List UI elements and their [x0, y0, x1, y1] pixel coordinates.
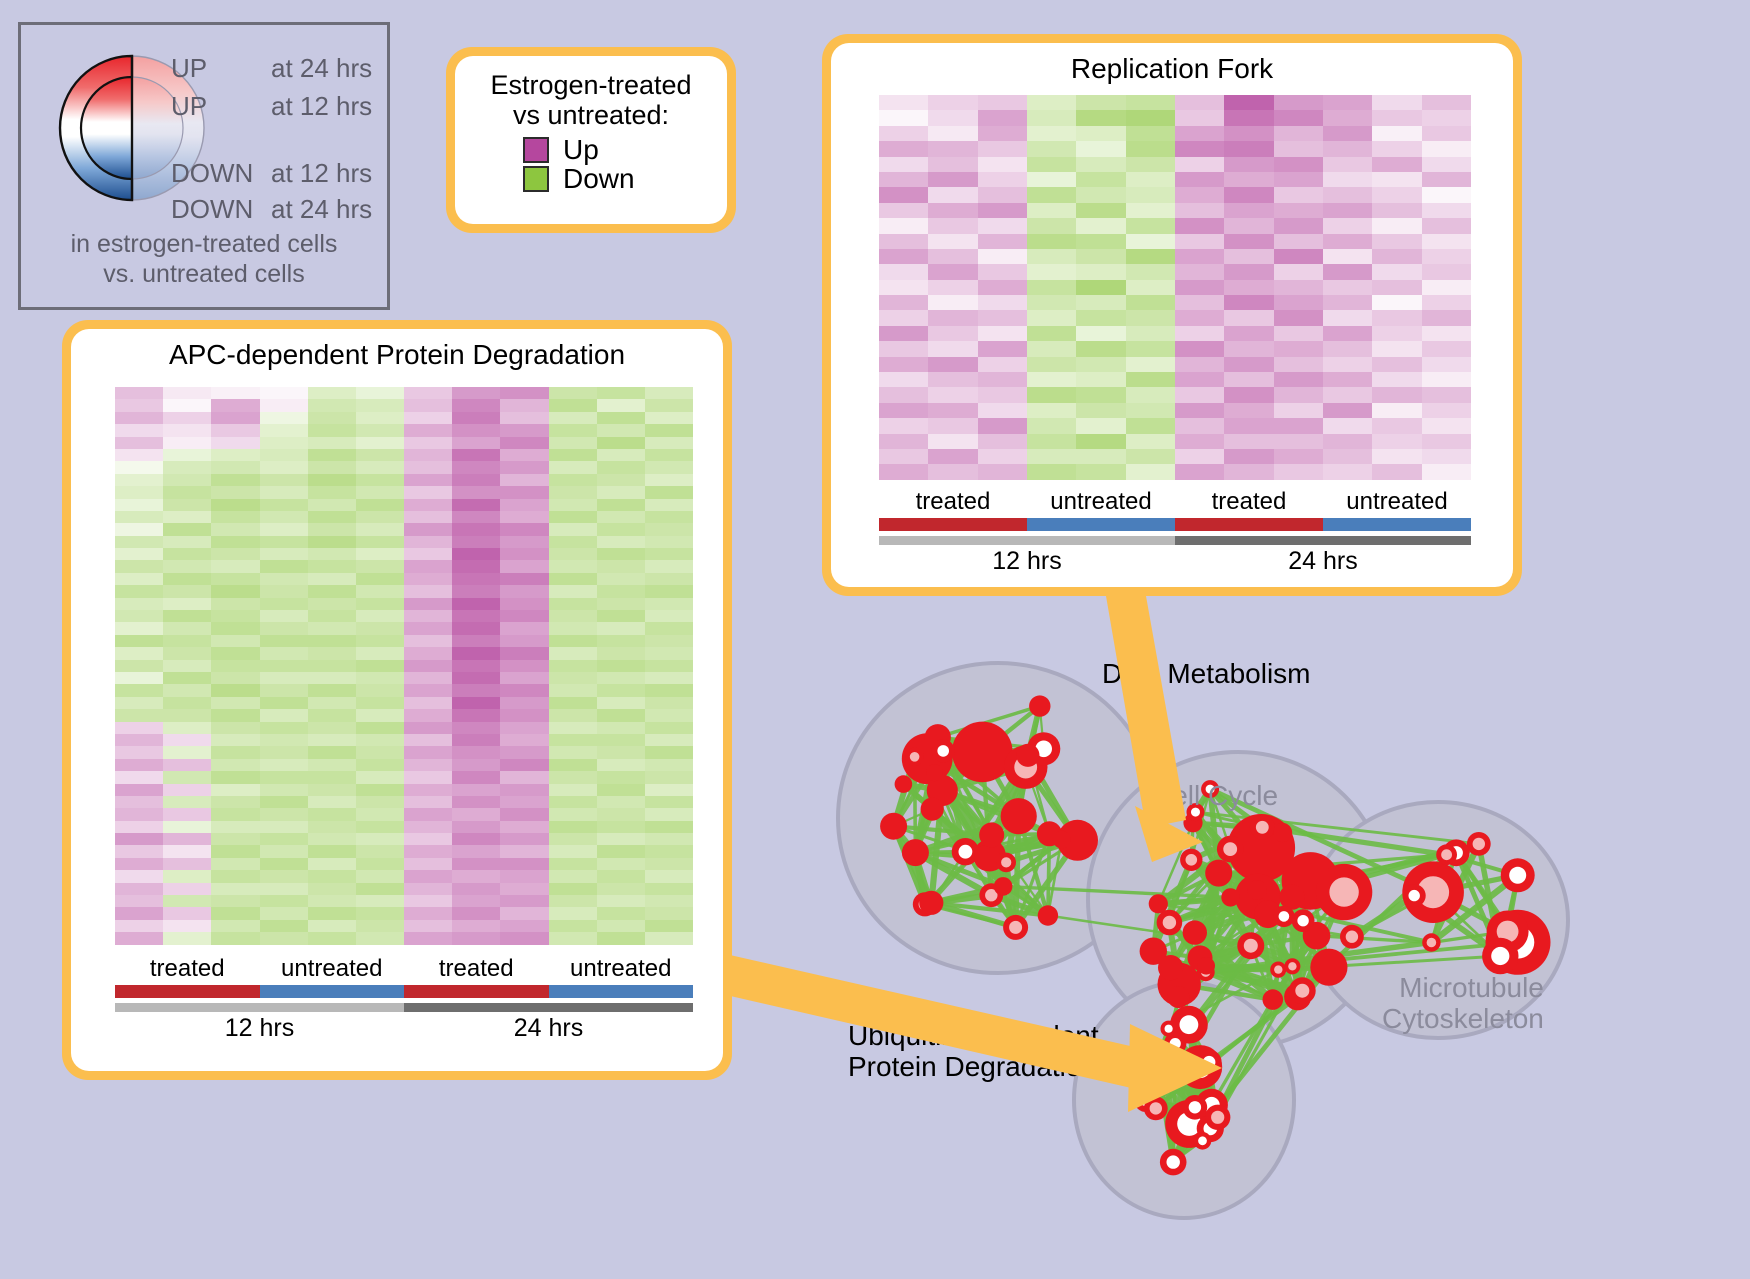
heat-cell — [500, 784, 548, 796]
heat-cell — [404, 610, 452, 622]
heat-cell — [549, 647, 597, 659]
heat-cell — [1274, 295, 1323, 310]
heat-cell — [549, 771, 597, 783]
heat-cell — [645, 474, 693, 486]
apc-degradation-panel: APC-dependent Protein Degradation treate… — [62, 320, 732, 1080]
heat-cell — [1175, 418, 1224, 433]
heat-cell — [1126, 418, 1175, 433]
heat-cell — [978, 280, 1027, 295]
heat-cell — [356, 548, 404, 560]
heat-cell — [452, 796, 500, 808]
heat-cell — [452, 722, 500, 734]
heat-cell — [1126, 434, 1175, 449]
network-node-core — [1473, 838, 1485, 850]
heat-cell — [211, 399, 259, 411]
heat-cell — [500, 771, 548, 783]
heat-cell — [404, 461, 452, 473]
heat-cell — [879, 264, 928, 279]
network-node[interactable] — [921, 798, 944, 821]
heat-cell — [308, 697, 356, 709]
heat-cell — [115, 399, 163, 411]
heat-cell — [1323, 110, 1372, 125]
heat-cell — [879, 249, 928, 264]
heat-cell — [500, 660, 548, 672]
network-node[interactable] — [1221, 888, 1239, 906]
apc-time-label-24: 24 hrs — [404, 1014, 693, 1043]
heat-cell — [1027, 464, 1076, 479]
heat-cell — [500, 709, 548, 721]
heat-cell — [549, 920, 597, 932]
heat-cell — [500, 647, 548, 659]
heat-cell — [978, 110, 1027, 125]
network-node-core — [1163, 916, 1176, 929]
heat-cell — [1323, 157, 1372, 172]
heat-cell — [500, 821, 548, 833]
heat-cell — [115, 759, 163, 771]
heat-cell — [500, 474, 548, 486]
heat-cell — [645, 784, 693, 796]
network-node[interactable] — [1263, 989, 1284, 1010]
heat-cell — [1372, 280, 1421, 295]
heat-cell — [549, 833, 597, 845]
heat-cell — [645, 486, 693, 498]
heat-cell — [260, 883, 308, 895]
heat-cell — [1076, 357, 1125, 372]
heat-cell — [404, 734, 452, 746]
network-node[interactable] — [1197, 957, 1215, 975]
heat-cell — [928, 403, 977, 418]
network-node[interactable] — [1149, 894, 1168, 913]
heat-cell — [211, 870, 259, 882]
network-node[interactable] — [1158, 955, 1183, 980]
heat-cell — [115, 870, 163, 882]
heat-cell — [645, 461, 693, 473]
key-footer-line-2: vs. untreated cells — [21, 260, 387, 290]
heat-cell — [1274, 126, 1323, 141]
heat-cell — [1175, 449, 1224, 464]
heat-cell — [356, 870, 404, 882]
heat-cell — [115, 474, 163, 486]
heat-cell — [404, 647, 452, 659]
heat-cell — [163, 573, 211, 585]
heat-cell — [260, 399, 308, 411]
heat-cell — [163, 622, 211, 634]
heat-cell — [211, 907, 259, 919]
heat-cell — [308, 598, 356, 610]
heat-cell — [1027, 126, 1076, 141]
heat-cell — [1027, 141, 1076, 156]
heat-cell — [163, 709, 211, 721]
heat-cell — [1076, 372, 1125, 387]
heat-cell — [1175, 280, 1224, 295]
network-node[interactable] — [1247, 880, 1267, 900]
heat-cell — [1323, 203, 1372, 218]
heat-cell — [308, 610, 356, 622]
heat-cell — [211, 845, 259, 857]
network-node-core — [1256, 821, 1269, 834]
heat-cell — [978, 157, 1027, 172]
heat-cell — [211, 536, 259, 548]
replication-fork-time-labels: 12 hrs 24 hrs — [879, 547, 1471, 576]
heat-cell — [978, 126, 1027, 141]
heat-cell — [163, 784, 211, 796]
heat-cell — [211, 560, 259, 572]
heat-cell — [404, 784, 452, 796]
heat-cell — [645, 511, 693, 523]
heat-cell — [1372, 387, 1421, 402]
heat-cell — [549, 932, 597, 944]
heat-cell — [211, 449, 259, 461]
heat-cell — [549, 499, 597, 511]
network-node[interactable] — [1053, 831, 1071, 849]
heat-cell — [260, 920, 308, 932]
replication-fork-condition-bars — [879, 518, 1471, 531]
heat-cell — [549, 387, 597, 399]
heat-cell — [404, 883, 452, 895]
network-node-core — [1167, 1155, 1180, 1168]
heat-cell — [1372, 418, 1421, 433]
heat-cell — [645, 585, 693, 597]
heat-cell — [163, 449, 211, 461]
heat-cell — [928, 187, 977, 202]
heat-cell — [549, 870, 597, 882]
network-node[interactable] — [1183, 920, 1207, 944]
heat-cell — [549, 622, 597, 634]
heat-cell — [1274, 372, 1323, 387]
heat-cell — [1422, 387, 1471, 402]
color-key-footer: in estrogen-treated cells vs. untreated … — [21, 230, 387, 289]
heat-cell — [549, 474, 597, 486]
heat-cell — [260, 486, 308, 498]
heat-cell — [356, 424, 404, 436]
heat-cell — [308, 833, 356, 845]
network-node[interactable] — [979, 822, 1004, 847]
network-node[interactable] — [1001, 798, 1037, 834]
network-node[interactable] — [880, 813, 907, 840]
heat-cell — [1224, 110, 1273, 125]
heat-cell — [645, 821, 693, 833]
heat-cell — [163, 474, 211, 486]
heat-cell — [1274, 357, 1323, 372]
heat-cell — [1224, 157, 1273, 172]
heat-cell — [356, 511, 404, 523]
heat-cell — [645, 424, 693, 436]
heat-cell — [356, 412, 404, 424]
heat-cell — [1274, 249, 1323, 264]
heat-cell — [260, 684, 308, 696]
heat-cell — [1076, 141, 1125, 156]
heat-cell — [879, 418, 928, 433]
heat-cell — [1323, 326, 1372, 341]
heat-cell — [645, 883, 693, 895]
network-node[interactable] — [1038, 905, 1058, 925]
heat-cell — [597, 858, 645, 870]
network-node[interactable] — [919, 891, 943, 915]
heat-cell — [1224, 387, 1273, 402]
heat-cell — [404, 449, 452, 461]
heat-cell — [356, 697, 404, 709]
heat-cell — [597, 622, 645, 634]
heat-cell — [500, 697, 548, 709]
heat-cell — [1175, 326, 1224, 341]
heat-cell — [645, 610, 693, 622]
network-node-core — [1211, 1111, 1224, 1124]
heat-cell — [1027, 234, 1076, 249]
heat-cell — [1372, 95, 1421, 110]
legend-heading: Estrogen-treated vs untreated: — [465, 70, 717, 130]
network-node[interactable] — [952, 722, 1013, 783]
network-node-core — [959, 845, 973, 859]
heat-cell — [356, 845, 404, 857]
heat-cell — [163, 523, 211, 535]
heat-cell — [356, 449, 404, 461]
heat-cell — [404, 746, 452, 758]
heat-cell — [549, 845, 597, 857]
heat-cell — [1175, 357, 1224, 372]
heat-cell — [211, 635, 259, 647]
heat-cell — [1027, 157, 1076, 172]
heat-cell — [1027, 249, 1076, 264]
heat-cell — [308, 821, 356, 833]
heat-cell — [645, 734, 693, 746]
heat-cell — [452, 784, 500, 796]
heat-cell — [1175, 157, 1224, 172]
heat-cell — [163, 560, 211, 572]
heat-cell — [645, 709, 693, 721]
heat-cell — [549, 573, 597, 585]
heat-cell — [115, 709, 163, 721]
heat-cell — [1126, 449, 1175, 464]
heat-cell — [500, 870, 548, 882]
network-node[interactable] — [994, 877, 1013, 896]
apc-bar-untreated-12 — [260, 985, 405, 998]
key-time-1: at 12 hrs — [271, 91, 372, 121]
heat-cell — [211, 697, 259, 709]
heat-cell — [1076, 234, 1125, 249]
heat-cell — [549, 412, 597, 424]
heat-cell — [879, 403, 928, 418]
heat-cell — [115, 684, 163, 696]
heat-cell — [500, 598, 548, 610]
heat-cell — [500, 932, 548, 944]
heat-cell — [1323, 234, 1372, 249]
heat-cell — [211, 412, 259, 424]
heat-cell — [260, 734, 308, 746]
heat-cell — [1126, 203, 1175, 218]
heat-cell — [260, 858, 308, 870]
heat-cell — [928, 218, 977, 233]
heat-cell — [356, 399, 404, 411]
heat-cell — [879, 110, 928, 125]
heat-cell — [356, 684, 404, 696]
heat-cell — [549, 697, 597, 709]
heat-cell — [356, 709, 404, 721]
network-node[interactable] — [974, 845, 1000, 871]
network-node-core — [1491, 947, 1509, 965]
apc-condition-2: treated — [404, 955, 549, 983]
heat-cell — [308, 560, 356, 572]
heat-cell — [1175, 218, 1224, 233]
heat-cell — [115, 573, 163, 585]
heat-cell — [308, 647, 356, 659]
heat-cell — [1175, 203, 1224, 218]
heat-cell — [597, 387, 645, 399]
heat-cell — [163, 610, 211, 622]
heat-cell — [452, 870, 500, 882]
heat-cell — [1175, 341, 1224, 356]
heat-cell — [260, 536, 308, 548]
network-node[interactable] — [1016, 744, 1039, 767]
heat-cell — [645, 548, 693, 560]
heat-cell — [500, 684, 548, 696]
heat-cell — [1224, 295, 1273, 310]
network-node[interactable] — [902, 839, 929, 866]
legend-item-up: Up — [523, 136, 717, 164]
heat-cell — [879, 449, 928, 464]
cluster-label-cell-cycle: Cell Cycle — [1152, 780, 1278, 811]
heat-cell — [1323, 357, 1372, 372]
pathway-network: DNA Metabolism Cell Cycle Microtubule Cy… — [790, 600, 1750, 1279]
heat-cell — [163, 424, 211, 436]
apc-condition-bars — [115, 985, 693, 998]
heat-cell — [1224, 310, 1273, 325]
heat-cell — [978, 434, 1027, 449]
heat-cell — [163, 746, 211, 758]
heat-cell — [452, 610, 500, 622]
heat-cell — [597, 920, 645, 932]
heat-cell — [1372, 464, 1421, 479]
heat-cell — [1175, 172, 1224, 187]
heat-cell — [1175, 403, 1224, 418]
network-node[interactable] — [895, 775, 913, 793]
heat-cell — [452, 920, 500, 932]
heat-cell — [115, 821, 163, 833]
heat-cell — [549, 461, 597, 473]
heat-cell — [879, 157, 928, 172]
heat-cell — [1076, 464, 1125, 479]
network-node[interactable] — [1310, 949, 1347, 986]
heat-cell — [500, 746, 548, 758]
apc-condition-1: untreated — [260, 955, 405, 983]
heat-cell — [404, 672, 452, 684]
heat-cell — [597, 585, 645, 597]
heat-cell — [597, 499, 645, 511]
heat-cell — [260, 449, 308, 461]
network-node[interactable] — [1273, 823, 1292, 842]
network-node[interactable] — [1029, 695, 1050, 716]
heat-cell — [452, 548, 500, 560]
heat-cell — [928, 249, 977, 264]
heat-cell — [404, 796, 452, 808]
apc-time-label-12: 12 hrs — [115, 1014, 404, 1043]
network-node[interactable] — [1167, 986, 1189, 1008]
heat-cell — [308, 585, 356, 597]
heat-cell — [356, 598, 404, 610]
heat-cell — [260, 548, 308, 560]
heat-cell — [978, 464, 1027, 479]
heat-cell — [356, 474, 404, 486]
heat-cell — [597, 635, 645, 647]
network-node-core — [1279, 911, 1290, 922]
heat-cell — [1274, 95, 1323, 110]
heat-cell — [1126, 357, 1175, 372]
heat-cell — [260, 821, 308, 833]
heat-cell — [211, 895, 259, 907]
heat-cell — [115, 858, 163, 870]
heat-cell — [163, 412, 211, 424]
network-node[interactable] — [1205, 860, 1232, 887]
heat-cell — [1274, 187, 1323, 202]
heat-cell — [308, 499, 356, 511]
rep-condition-3: untreated — [1323, 488, 1471, 516]
heat-cell — [356, 387, 404, 399]
heat-cell — [1372, 310, 1421, 325]
heat-cell — [260, 622, 308, 634]
heat-cell — [1126, 464, 1175, 479]
heat-cell — [549, 424, 597, 436]
heat-cell — [356, 635, 404, 647]
heat-cell — [452, 536, 500, 548]
heat-cell — [260, 387, 308, 399]
heat-cell — [452, 598, 500, 610]
heat-cell — [356, 610, 404, 622]
heat-cell — [978, 249, 1027, 264]
heat-cell — [308, 907, 356, 919]
cluster-label-dna-metabolism: DNA Metabolism — [1102, 658, 1311, 689]
heat-cell — [356, 907, 404, 919]
heat-cell — [597, 511, 645, 523]
heat-cell — [404, 635, 452, 647]
heat-cell — [597, 734, 645, 746]
heat-cell — [356, 771, 404, 783]
heat-cell — [928, 418, 977, 433]
heat-cell — [500, 387, 548, 399]
updown-legend-panel: Estrogen-treated vs untreated: Up Down — [446, 47, 736, 233]
heat-cell — [452, 759, 500, 771]
heat-cell — [645, 387, 693, 399]
heat-cell — [1422, 203, 1471, 218]
heat-cell — [452, 845, 500, 857]
legend-item-down: Down — [523, 165, 717, 193]
heat-cell — [928, 341, 977, 356]
heat-cell — [879, 434, 928, 449]
heat-cell — [356, 932, 404, 944]
network-node[interactable] — [926, 764, 943, 781]
heat-cell — [1323, 141, 1372, 156]
heat-cell — [163, 845, 211, 857]
heat-cell — [549, 672, 597, 684]
heat-cell — [928, 95, 977, 110]
heat-cell — [1027, 187, 1076, 202]
heat-cell — [879, 187, 928, 202]
heat-cell — [645, 499, 693, 511]
heat-cell — [645, 746, 693, 758]
heat-cell — [163, 635, 211, 647]
apc-timebar-12hrs — [115, 1003, 404, 1012]
heat-cell — [1224, 234, 1273, 249]
heat-cell — [500, 672, 548, 684]
key-footer-line-1: in estrogen-treated cells — [21, 230, 387, 260]
heat-cell — [211, 622, 259, 634]
heat-cell — [597, 784, 645, 796]
heat-cell — [404, 722, 452, 734]
network-node-core — [1329, 877, 1358, 906]
heat-cell — [115, 920, 163, 932]
heat-cell — [1372, 126, 1421, 141]
heat-cell — [308, 449, 356, 461]
heat-cell — [978, 403, 1027, 418]
heat-cell — [452, 585, 500, 597]
